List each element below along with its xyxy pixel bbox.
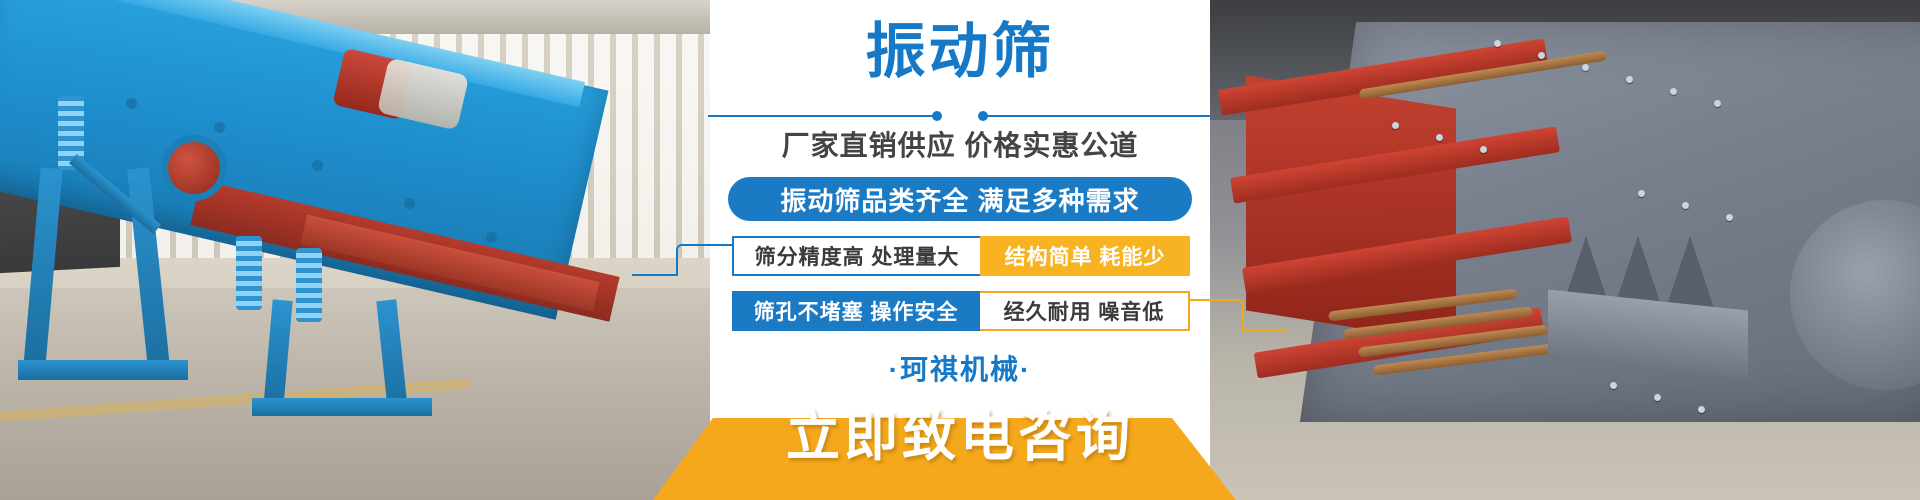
bolt	[486, 232, 497, 243]
rivet	[1610, 382, 1617, 389]
bolt	[126, 98, 137, 109]
bolt	[404, 198, 415, 209]
highlight-pill: 振动筛品类齐全 满足多种需求	[728, 177, 1192, 221]
rivet	[1582, 64, 1589, 71]
rivet	[1682, 202, 1689, 209]
subtitle: 厂家直销供应 价格实惠公道	[710, 124, 1210, 164]
bolt	[312, 160, 323, 171]
bolt	[214, 122, 225, 133]
base-frame	[252, 398, 432, 416]
rivet	[1638, 190, 1645, 197]
divider-dot-left-icon	[932, 111, 942, 121]
eccentric-hub	[168, 142, 220, 194]
product-photo-right	[1208, 0, 1920, 500]
rivet	[1626, 76, 1633, 83]
rivet	[1670, 88, 1677, 95]
rivet	[1392, 122, 1399, 129]
cta-label[interactable]: 立即致电咨询	[710, 392, 1210, 471]
elbow-connector-left-icon	[676, 244, 732, 274]
rivet	[1726, 214, 1733, 221]
product-photo-left	[0, 0, 712, 500]
feature-row-1-right: 结构简单 耗能少	[980, 236, 1190, 276]
damper-spring	[236, 236, 262, 310]
elbow-connector-right-icon	[1188, 299, 1244, 329]
feature-row-1-left: 筛分精度高 处理量大	[732, 236, 980, 276]
base-frame	[18, 360, 188, 380]
rivet	[1714, 100, 1721, 107]
brand-name: ·珂祺机械·	[710, 348, 1210, 388]
feature-row-2: 筛孔不堵塞 操作安全 经久耐用 噪音低	[732, 291, 1190, 331]
damper-spring	[296, 248, 322, 322]
rivet	[1538, 52, 1545, 59]
divider-line-left	[708, 115, 936, 117]
rivet	[1698, 406, 1705, 413]
feature-row-1: 筛分精度高 处理量大 结构简单 耗能少	[732, 236, 1190, 276]
title-divider	[708, 110, 1212, 122]
rivet	[1494, 40, 1501, 47]
divider-line-right	[984, 115, 1212, 117]
feature-row-2-right: 经久耐用 噪音低	[980, 291, 1190, 331]
rivet	[1436, 134, 1443, 141]
page-title: 振动筛	[710, 22, 1210, 82]
rivet	[1480, 146, 1487, 153]
promo-banner: 振动筛 厂家直销供应 价格实惠公道 振动筛品类齐全 满足多种需求 筛分精度高 处…	[0, 0, 1920, 500]
feature-row-2-left: 筛孔不堵塞 操作安全	[732, 291, 980, 331]
rivet	[1654, 394, 1661, 401]
